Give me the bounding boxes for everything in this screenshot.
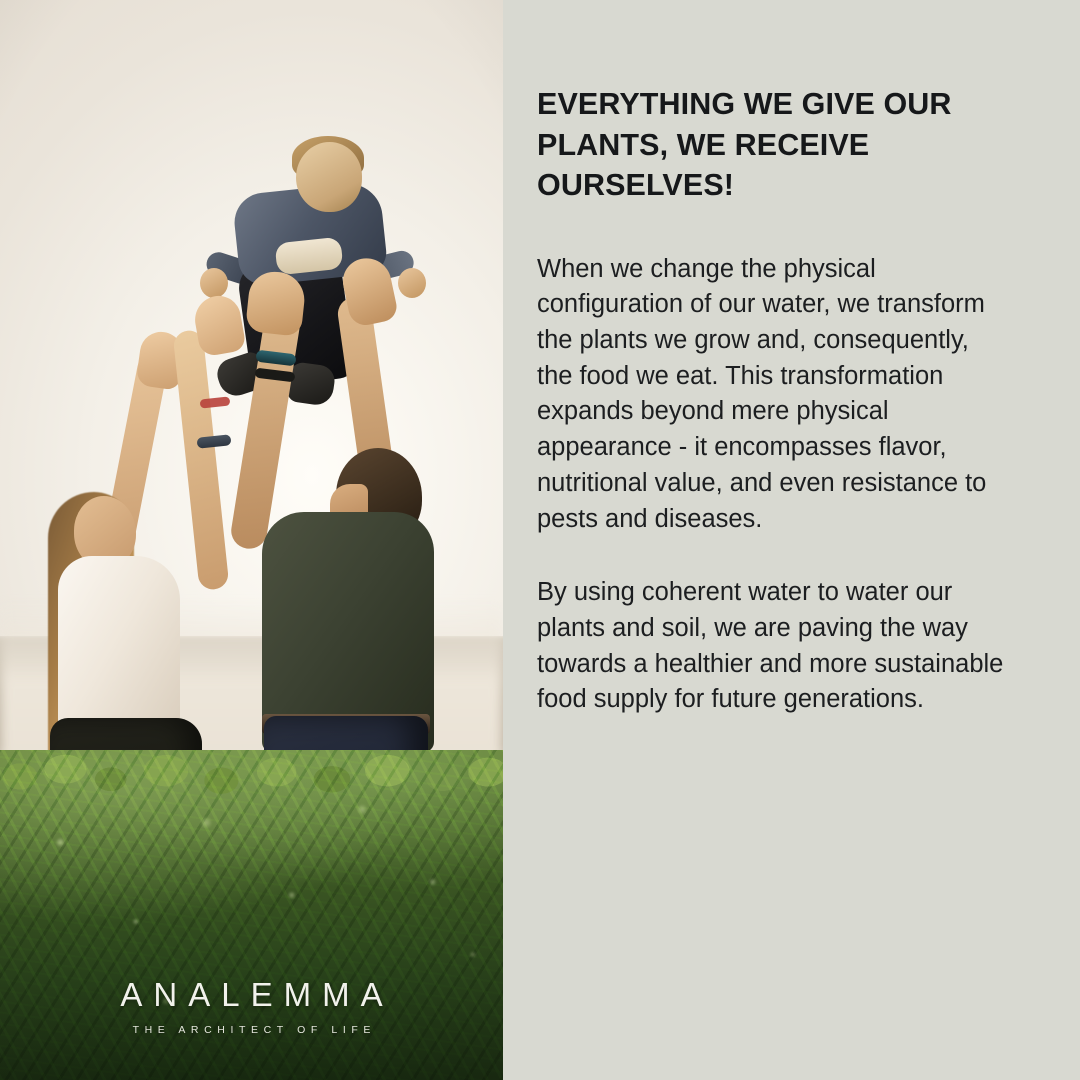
text-panel-inner: EVERYTHING WE GIVE OUR PLANTS, WE RECEIV…: [537, 84, 1010, 718]
hero-photo: ANALEMMA THE ARCHITECT OF LIFE: [0, 0, 503, 1080]
toddler-right-hand: [398, 268, 426, 298]
toddler-left-hand: [200, 268, 228, 298]
body-paragraph-2: By using coherent water to water our pla…: [537, 575, 1010, 718]
toddler-head: [296, 142, 362, 212]
social-post: ANALEMMA THE ARCHITECT OF LIFE EVERYTHIN…: [0, 0, 1080, 1080]
bokeh-highlights: [0, 750, 503, 1080]
woman-white-top: [58, 556, 180, 738]
page-title: EVERYTHING WE GIVE OUR PLANTS, WE RECEIV…: [537, 84, 1010, 206]
body-paragraph-1: When we change the physical configuratio…: [537, 252, 1010, 538]
text-panel: EVERYTHING WE GIVE OUR PLANTS, WE RECEIV…: [503, 0, 1080, 1080]
